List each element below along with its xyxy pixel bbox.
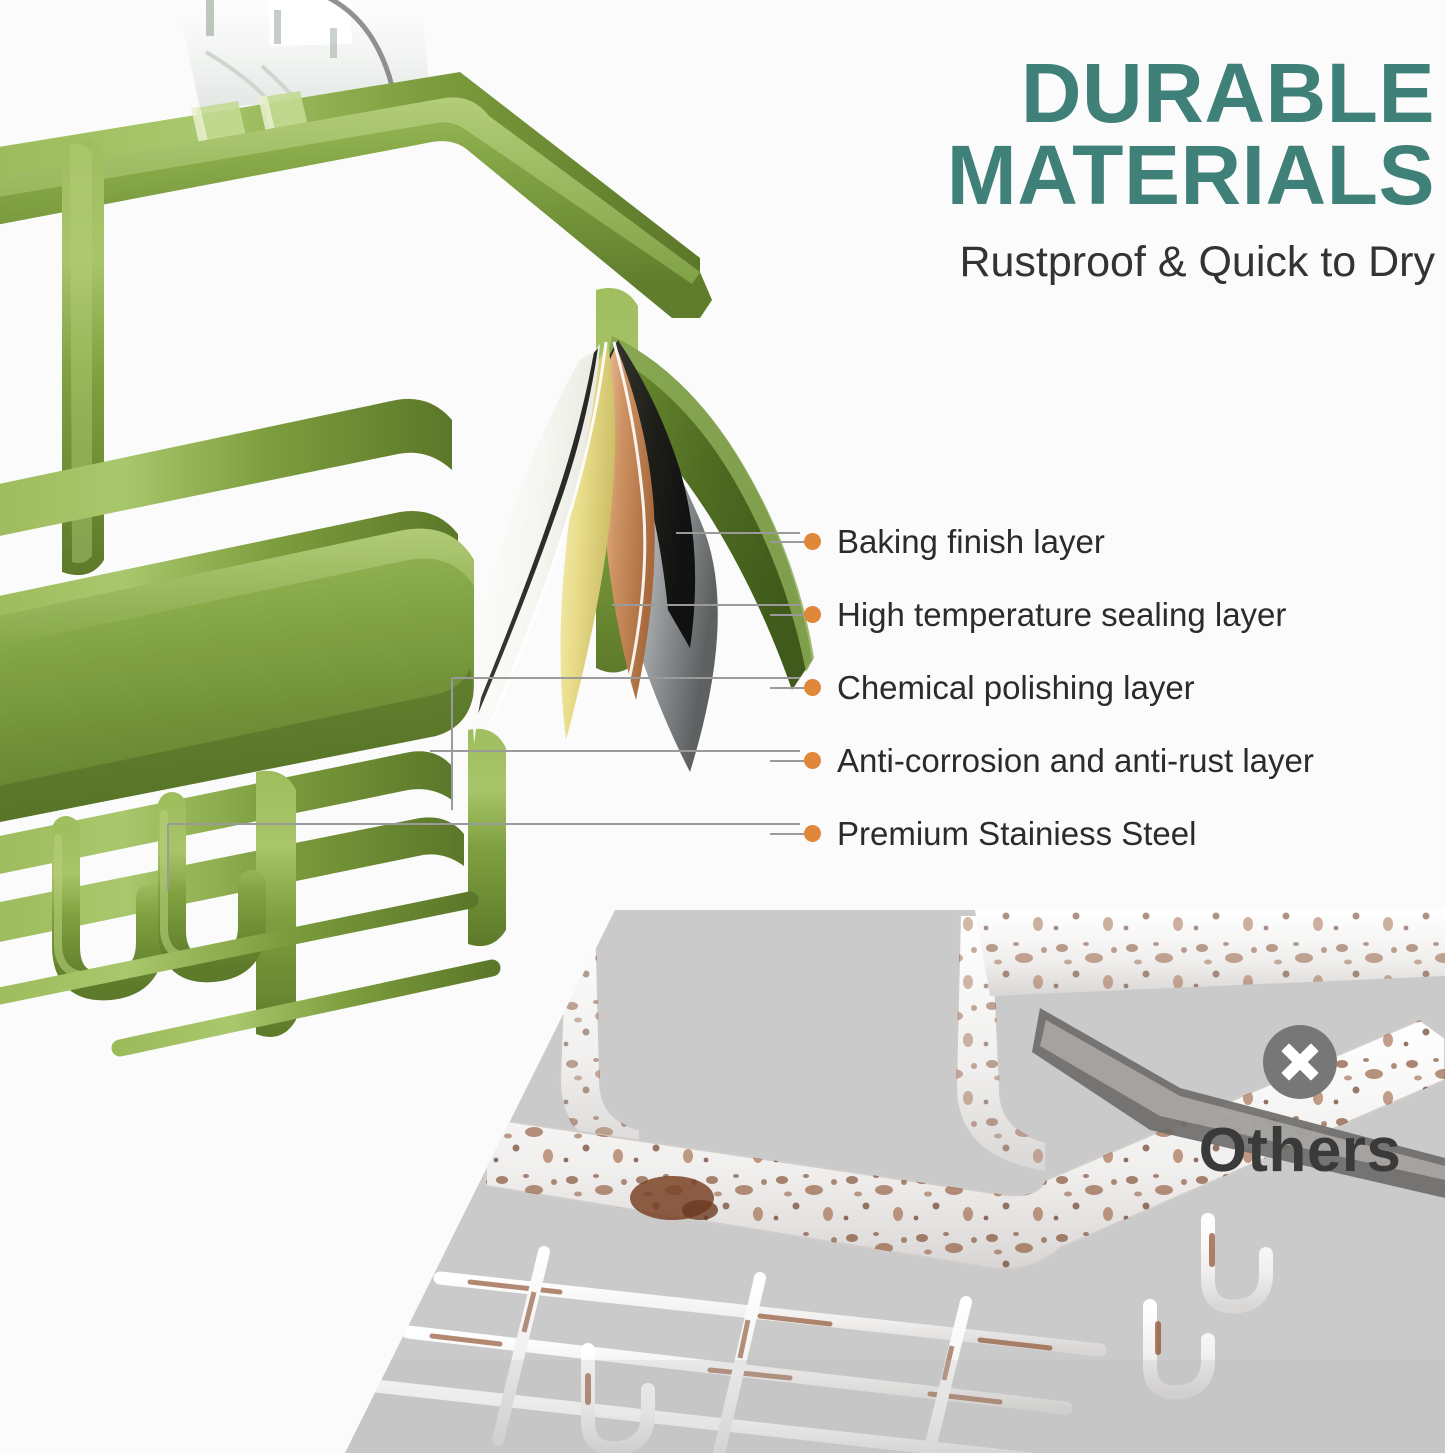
headline-line-1: DURABLE <box>1021 46 1435 140</box>
callout-item: Anti-corrosion and anti-rust layer <box>770 724 1445 797</box>
bullet-dot-icon <box>804 533 821 550</box>
coating-layer-callout-list: Baking finish layer High temperature sea… <box>770 505 1445 870</box>
bullet-dot-icon <box>804 825 821 842</box>
others-label: Others <box>1175 1115 1425 1186</box>
callout-item: High temperature sealing layer <box>770 578 1445 651</box>
headline-block: DURABLE MATERIALS Rustproof & Quick to D… <box>780 52 1435 286</box>
callout-item: Premium Stainiess Steel <box>770 797 1445 870</box>
bullet-dot-icon <box>804 606 821 623</box>
page-title: DURABLE MATERIALS <box>780 52 1435 217</box>
callout-item: Chemical polishing layer <box>770 651 1445 724</box>
x-mark-icon <box>1263 1025 1337 1099</box>
callout-label: Anti-corrosion and anti-rust layer <box>837 744 1314 777</box>
callout-label: High temperature sealing layer <box>837 598 1286 631</box>
callout-connector-line <box>770 541 805 543</box>
callout-connector-line <box>770 687 805 689</box>
bullet-dot-icon <box>804 752 821 769</box>
callout-label: Baking finish layer <box>837 525 1105 558</box>
callout-connector-line <box>770 760 805 762</box>
coating-layer-fan <box>473 336 814 772</box>
callout-connector-line <box>770 614 805 616</box>
infographic-canvas: DURABLE MATERIALS Rustproof & Quick to D… <box>0 0 1445 1453</box>
others-comparison-panel: Others <box>0 880 1445 1453</box>
headline-line-2: MATERIALS <box>780 134 1435 216</box>
callout-label: Premium Stainiess Steel <box>837 817 1196 850</box>
page-subtitle: Rustproof & Quick to Dry <box>780 239 1435 286</box>
callout-item: Baking finish layer <box>770 505 1445 578</box>
bullet-dot-icon <box>804 679 821 696</box>
callout-label: Chemical polishing layer <box>837 671 1195 704</box>
callout-connector-line <box>770 833 805 835</box>
others-badge: Others <box>1175 1025 1425 1186</box>
